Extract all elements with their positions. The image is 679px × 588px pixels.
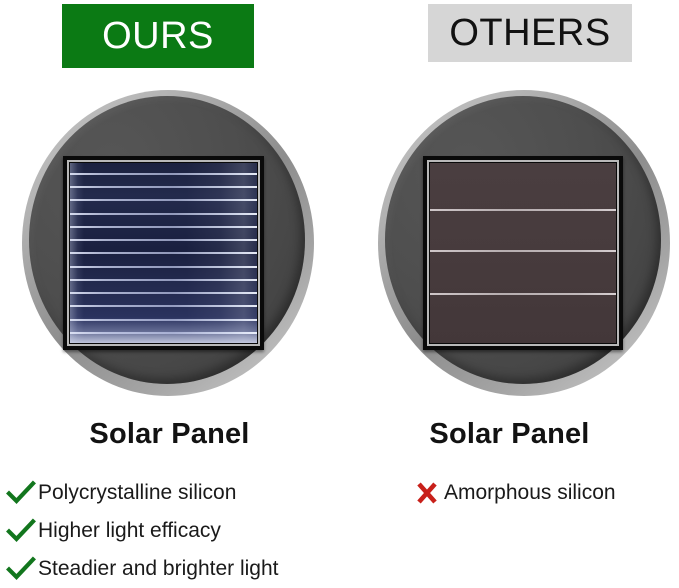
feature-label: Steadier and brighter light	[38, 557, 279, 581]
panel-busbar-line	[70, 266, 257, 268]
panel-busbar-line	[70, 226, 257, 228]
check-icon	[6, 556, 36, 582]
panel-strip-line	[430, 250, 616, 252]
panel-title-ours: Solar Panel	[0, 418, 339, 451]
panel-strip-line	[430, 293, 616, 295]
feature-row: Steadier and brighter light	[6, 550, 339, 588]
comparison-diagram: OURS Solar Panel Polycrystalline silicon…	[0, 0, 679, 587]
panel-busbar-line	[70, 239, 257, 241]
solar-panel-polycrystalline	[63, 156, 264, 350]
check-icon	[6, 518, 36, 544]
feature-list-ours: Polycrystalline siliconHigher light effi…	[6, 474, 339, 588]
panel-busbar-line	[70, 332, 257, 334]
disc-body	[385, 96, 661, 384]
panel-busbar-line	[70, 292, 257, 294]
panel-bottom-glare	[70, 317, 257, 343]
solar-panel-amorphous	[423, 156, 623, 350]
panel-busbar-line	[70, 319, 257, 321]
feature-row: Polycrystalline silicon	[6, 474, 339, 512]
panel-busbar-line	[70, 279, 257, 281]
solar-lamp-disc-others	[378, 90, 670, 396]
feature-list-others: Amorphous silicon	[412, 474, 679, 512]
badge-ours: OURS	[62, 4, 254, 68]
comparison-column-ours: OURS Solar Panel Polycrystalline silicon…	[0, 0, 339, 587]
panel-title-others: Solar Panel	[340, 418, 679, 451]
panel-strip-line	[430, 209, 616, 211]
panel-cell-surface	[430, 163, 616, 343]
check-icon	[6, 480, 36, 506]
disc-body	[29, 96, 305, 384]
feature-label: Polycrystalline silicon	[38, 481, 236, 505]
comparison-column-others: OTHERS Solar Panel Amorphous silicon	[340, 0, 679, 587]
panel-busbar-line	[70, 305, 257, 307]
badge-others: OTHERS	[428, 4, 632, 62]
panel-busbar-line	[70, 252, 257, 254]
cross-icon	[412, 480, 442, 506]
panel-busbar-line	[70, 213, 257, 215]
feature-row: Amorphous silicon	[412, 474, 679, 512]
feature-row: Higher light efficacy	[6, 512, 339, 550]
panel-cell-surface	[70, 163, 257, 343]
feature-label: Amorphous silicon	[444, 481, 616, 505]
solar-lamp-disc-ours	[22, 90, 314, 396]
panel-busbar-line	[70, 186, 257, 188]
panel-busbar-line	[70, 199, 257, 201]
panel-busbar-line	[70, 173, 257, 175]
feature-label: Higher light efficacy	[38, 519, 221, 543]
